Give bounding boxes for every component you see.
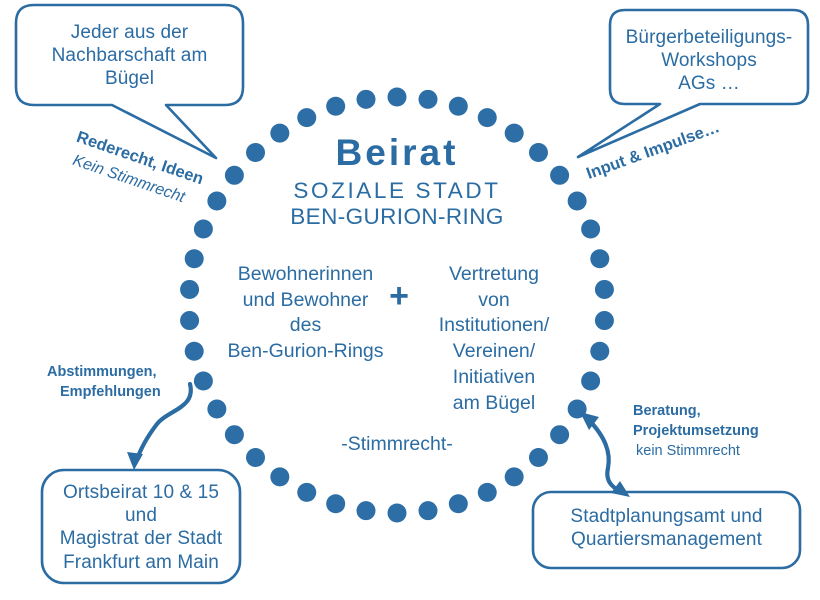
ring-dot xyxy=(581,220,600,239)
ring-dot xyxy=(550,425,569,444)
box-ortsbeirat-text: Ortsbeirat 10 & 15 und Magistrat der Sta… xyxy=(44,481,238,574)
ring-dot xyxy=(419,501,438,520)
ring-dot xyxy=(270,467,289,486)
ring-dot xyxy=(194,220,213,239)
bubble-participation-text: Bürgerbeteiligungs- Workshops AGs … xyxy=(614,26,804,96)
ring-dot xyxy=(590,342,609,361)
ring-dot xyxy=(478,483,497,502)
annotation-beratung-line1: Beratung, xyxy=(633,402,820,421)
ring-dot xyxy=(357,501,376,520)
ring-dot xyxy=(595,280,614,299)
ring-dot xyxy=(449,97,468,116)
ring-dot xyxy=(246,448,265,467)
center-left-column: Bewohnerinnen und Bewohner des Ben-Gurio… xyxy=(218,262,393,365)
ring-dot xyxy=(297,108,316,127)
ring-dot xyxy=(326,494,345,513)
center-subtitle-soziale-stadt: SOZIALE STADT xyxy=(247,177,547,204)
annotation-abstimmungen-line1: Abstimmungen, xyxy=(47,363,227,382)
ring-dot xyxy=(185,249,204,268)
ring-dot xyxy=(505,467,524,486)
center-footer-stimmrecht: -Stimmrecht- xyxy=(297,433,497,457)
center-right-column: Vertretung von Institutionen/ Vereinen/ … xyxy=(414,262,574,416)
ring-dot xyxy=(568,192,587,211)
ring-dot xyxy=(207,192,226,211)
ring-dot xyxy=(388,504,407,523)
diagram-canvas: Jeder aus der Nachbarschaft am Bügel Bür… xyxy=(0,0,820,600)
center-subtitle-ben-gurion-ring: BEN-GURION-RING xyxy=(247,203,547,230)
ring-dot xyxy=(207,400,226,419)
ring-dot xyxy=(180,280,199,299)
ring-dot xyxy=(225,166,244,185)
ring-dot xyxy=(180,311,199,330)
annotation-beratung-line2: Projektumsetzung xyxy=(633,422,820,441)
ring-dot xyxy=(478,108,497,127)
ring-dot xyxy=(529,448,548,467)
ring-dot xyxy=(595,311,614,330)
annotation-beratung-line3: kein Stimmrecht xyxy=(636,442,820,461)
plus-symbol: + xyxy=(386,276,412,317)
annotation-abstimmungen-line2: Empfehlungen xyxy=(60,383,240,402)
bubble-neighbourhood-text: Jeder aus der Nachbarschaft am Bügel xyxy=(22,21,237,91)
ring-dot xyxy=(590,249,609,268)
ring-dot xyxy=(297,483,316,502)
box-stadtplanungsamt-text: Stadtplanungsamt und Quartiersmanagement xyxy=(535,505,798,551)
ring-dot xyxy=(449,494,468,513)
ring-dot xyxy=(326,97,345,116)
ring-dot xyxy=(388,88,407,107)
ring-dot xyxy=(225,425,244,444)
ring-dot xyxy=(357,90,376,109)
ring-dot xyxy=(550,166,569,185)
ring-dot xyxy=(185,342,204,361)
arrow-beratung xyxy=(580,412,630,497)
ring-dot xyxy=(419,90,438,109)
center-title: Beirat xyxy=(247,130,547,175)
ring-dot xyxy=(581,371,600,390)
